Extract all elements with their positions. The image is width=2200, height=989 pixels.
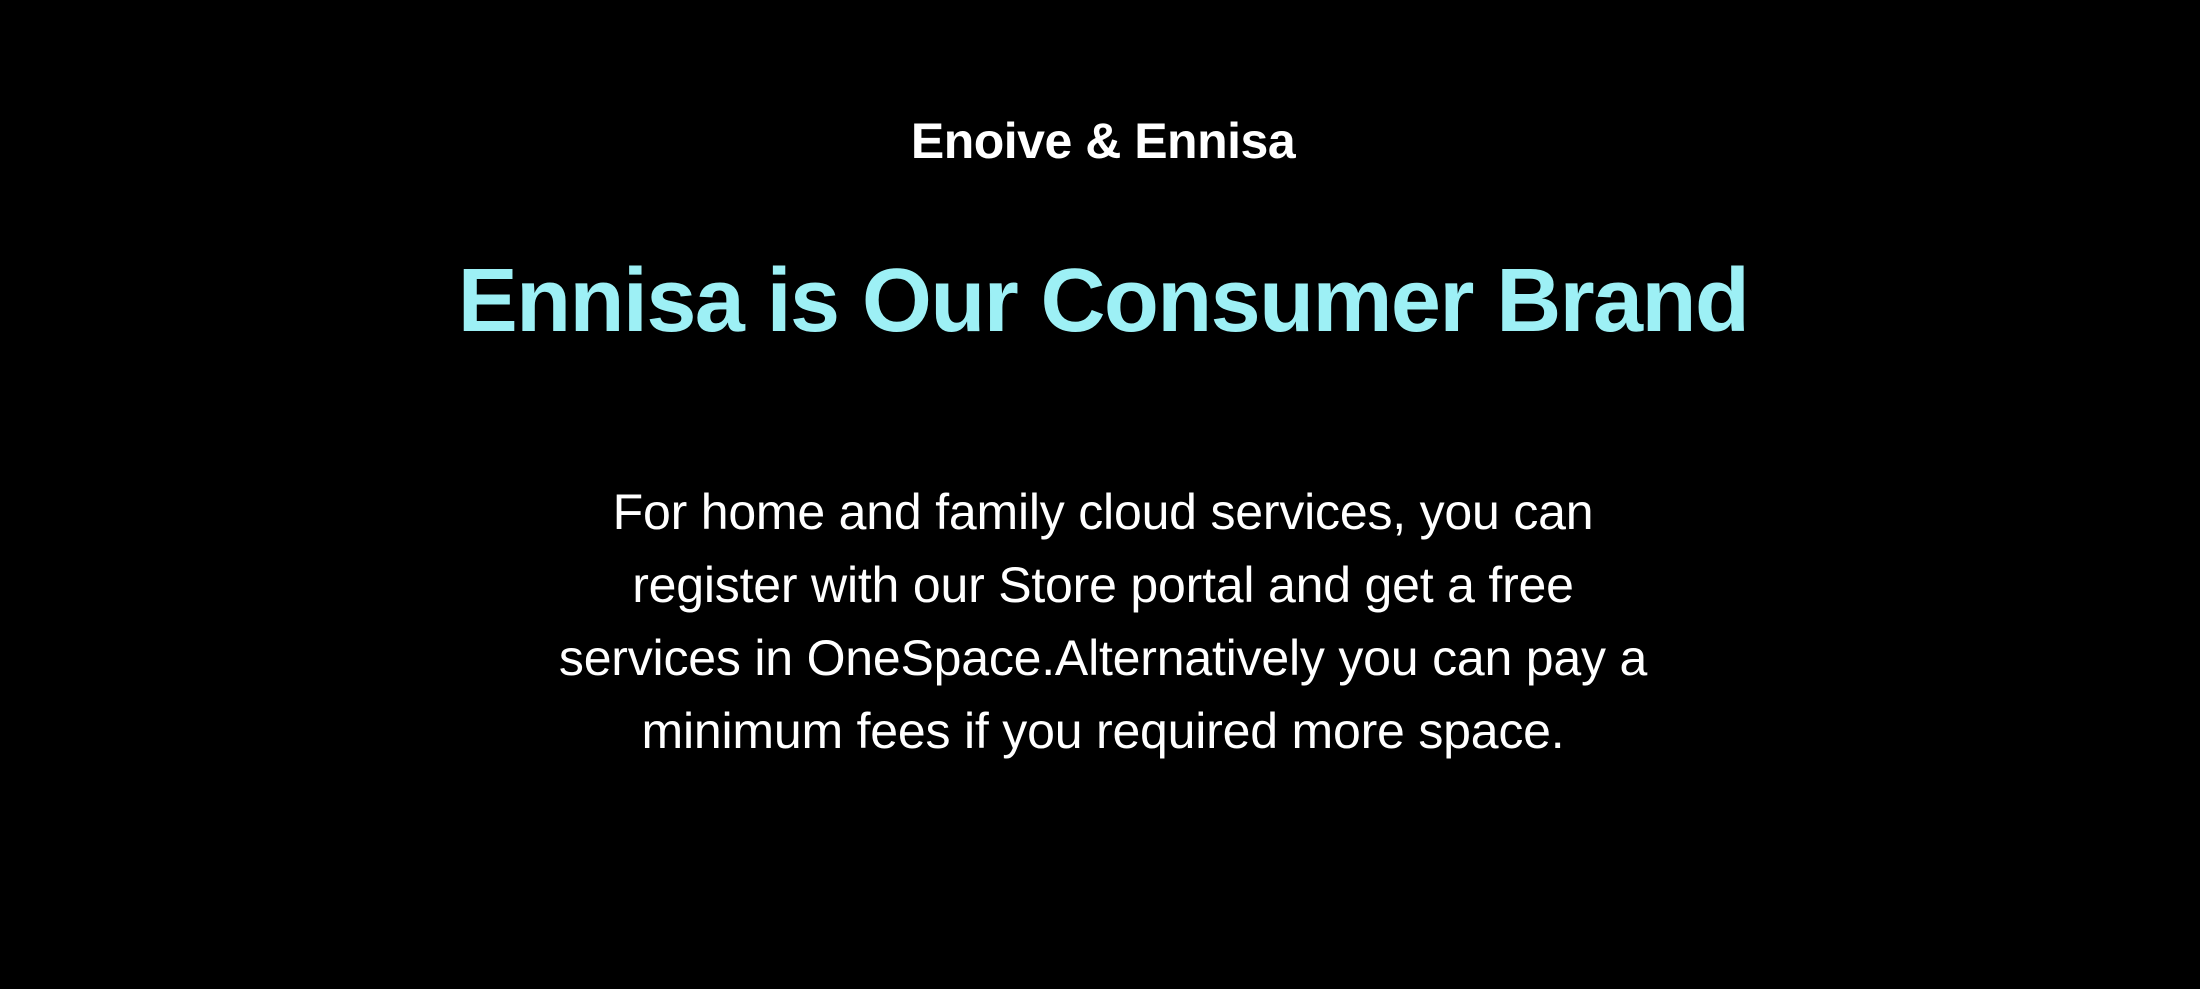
slide-canvas: Enoive & Ennisa Ennisa is Our Consumer B… [0,0,2200,989]
slide-content: Enoive & Ennisa Ennisa is Our Consumer B… [0,0,2200,989]
slide-headline: Ennisa is Our Consumer Brand [458,249,1748,353]
slide-body-text: For home and family cloud services, you … [559,476,1647,768]
slide-eyebrow: Enoive & Ennisa [911,112,1295,170]
